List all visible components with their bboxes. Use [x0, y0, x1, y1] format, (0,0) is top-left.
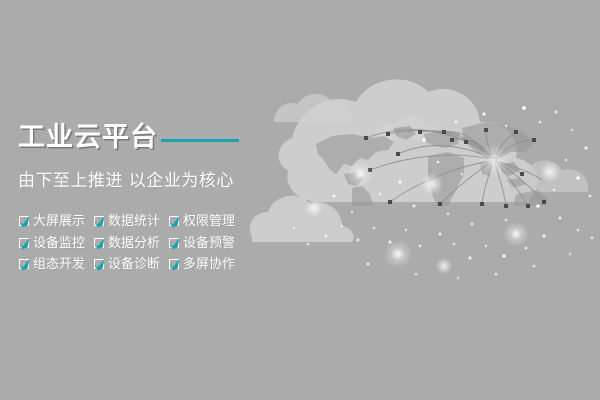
feature-label: 权限管理: [183, 213, 235, 231]
check-icon: [93, 237, 106, 250]
hero-text-block: 工业云平台 由下至上推进 以企业为核心 大屏展示: [18, 120, 288, 274]
feature-item[interactable]: 设备诊断: [93, 256, 168, 274]
check-icon: [168, 258, 181, 271]
check-icon: [18, 258, 31, 271]
check-icon: [18, 237, 31, 250]
feature-label: 设备预警: [183, 235, 235, 253]
feature-item[interactable]: 组态开发: [18, 256, 93, 274]
cloud-shapes: [250, 79, 588, 242]
feature-item[interactable]: 多屏协作: [168, 256, 243, 274]
title-rule: [161, 139, 239, 142]
feature-item[interactable]: 设备预警: [168, 235, 243, 253]
feature-label: 数据分析: [108, 235, 160, 253]
feature-item[interactable]: 设备监控: [18, 235, 93, 253]
check-icon: [18, 215, 31, 228]
check-icon: [168, 215, 181, 228]
page-title: 工业云平台: [18, 124, 158, 151]
feature-item[interactable]: 大屏展示: [18, 213, 93, 231]
feature-item[interactable]: 权限管理: [168, 213, 243, 231]
feature-label: 设备诊断: [108, 256, 160, 274]
check-icon: [93, 215, 106, 228]
feature-grid: 大屏展示 数据统计 权限管理: [18, 213, 288, 274]
cloud-world-map-illustration: [248, 78, 600, 304]
feature-item[interactable]: 数据统计: [93, 213, 168, 231]
feature-label: 大屏展示: [33, 213, 85, 231]
feature-label: 组态开发: [33, 256, 85, 274]
check-icon: [93, 258, 106, 271]
feature-label: 设备监控: [33, 235, 85, 253]
feature-label: 数据统计: [108, 213, 160, 231]
hero-banner: 工业云平台 由下至上推进 以企业为核心 大屏展示: [0, 0, 600, 400]
page-subtitle: 由下至上推进 以企业为核心: [18, 166, 288, 191]
title-row: 工业云平台: [18, 120, 288, 154]
check-icon: [168, 237, 181, 250]
feature-label: 多屏协作: [183, 256, 235, 274]
feature-item[interactable]: 数据分析: [93, 235, 168, 253]
